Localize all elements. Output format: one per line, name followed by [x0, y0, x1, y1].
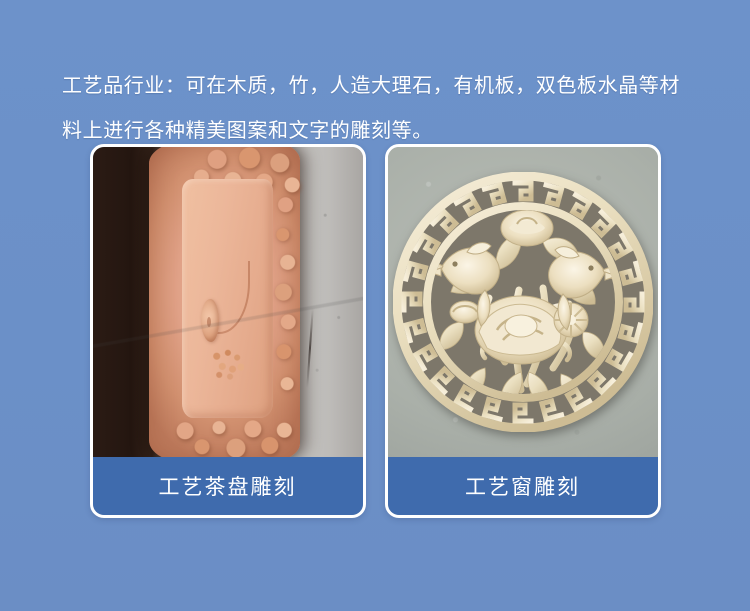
bird-right [548, 247, 626, 330]
peony-center [475, 296, 567, 364]
floor-crack [306, 308, 314, 388]
product-card-tea-tray[interactable]: 工艺茶盘雕刻 [90, 144, 366, 518]
tray-inner-panel [182, 179, 273, 418]
tray-gourd-motif [201, 299, 219, 342]
lattice-window-photo [388, 147, 658, 457]
tea-tray-photo [93, 147, 363, 457]
tray-berry-carvings [213, 346, 244, 379]
card-caption-lattice-window: 工艺窗雕刻 [388, 457, 658, 515]
relief-cluster-bottom [173, 402, 294, 457]
flower-bud-left [450, 301, 480, 323]
lattice-window-scene [388, 147, 658, 457]
promo-page: 工艺品行业：可在木质，竹，人造大理石，有机板，双色板水晶等材料上进行各种精美图案… [0, 0, 750, 611]
intro-paragraph: 工艺品行业：可在木质，竹，人造大理石，有机板，双色板水晶等材料上进行各种精美图案… [62, 64, 696, 154]
card-caption-tea-tray: 工艺茶盘雕刻 [93, 457, 363, 515]
product-card-row: 工艺茶盘雕刻 [0, 144, 750, 518]
chrysanthemum-right [554, 303, 588, 337]
product-card-lattice-window[interactable]: 工艺窗雕刻 [385, 144, 661, 518]
circular-lattice-carving [393, 172, 653, 432]
bird-left [419, 243, 499, 326]
relief-cluster-right [272, 192, 299, 405]
meander-border [404, 183, 642, 421]
relief-cluster-top [188, 147, 300, 209]
tray-incised-curve [206, 261, 250, 335]
floral-bird-scene [419, 210, 627, 424]
carved-tea-tray [149, 147, 300, 457]
tea-tray-scene [93, 147, 363, 457]
peony-bud-top [501, 210, 553, 246]
